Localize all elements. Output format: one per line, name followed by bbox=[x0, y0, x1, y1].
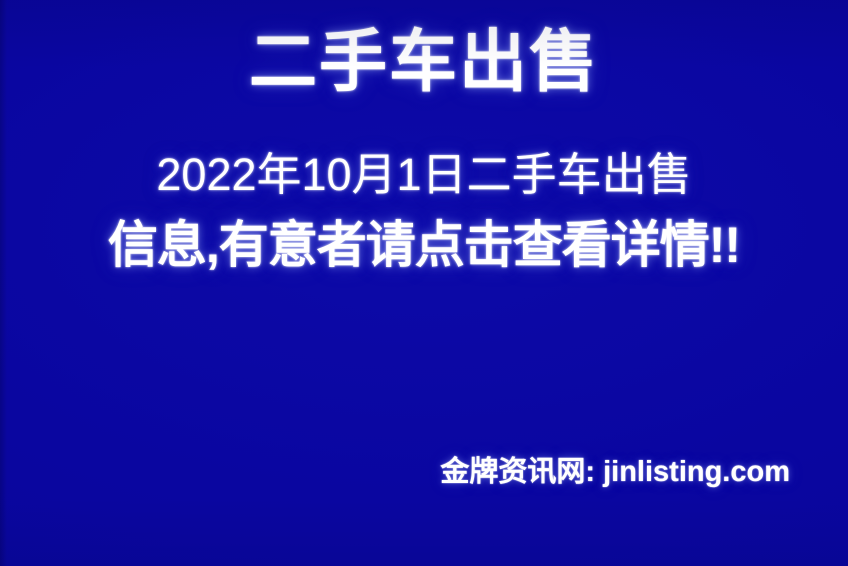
body-text-block: 2022年10月1日二手车出售 信息,有意者请点击查看详情!! bbox=[0, 152, 848, 271]
site-name-label: 金牌资讯网: bbox=[440, 456, 595, 488]
body-line-1: 2022年10月1日二手车出售 bbox=[0, 152, 848, 198]
site-url-label: jinlisting.com bbox=[603, 456, 790, 488]
poster-canvas: 二手车出售 2022年10月1日二手车出售 信息,有意者请点击查看详情!! 金牌… bbox=[0, 0, 848, 566]
body-line-2: 信息,有意者请点击查看详情!! bbox=[0, 220, 848, 271]
page-title: 二手车出售 bbox=[0, 28, 848, 96]
watermark-footer: 金牌资讯网: jinlisting.com bbox=[440, 458, 790, 487]
